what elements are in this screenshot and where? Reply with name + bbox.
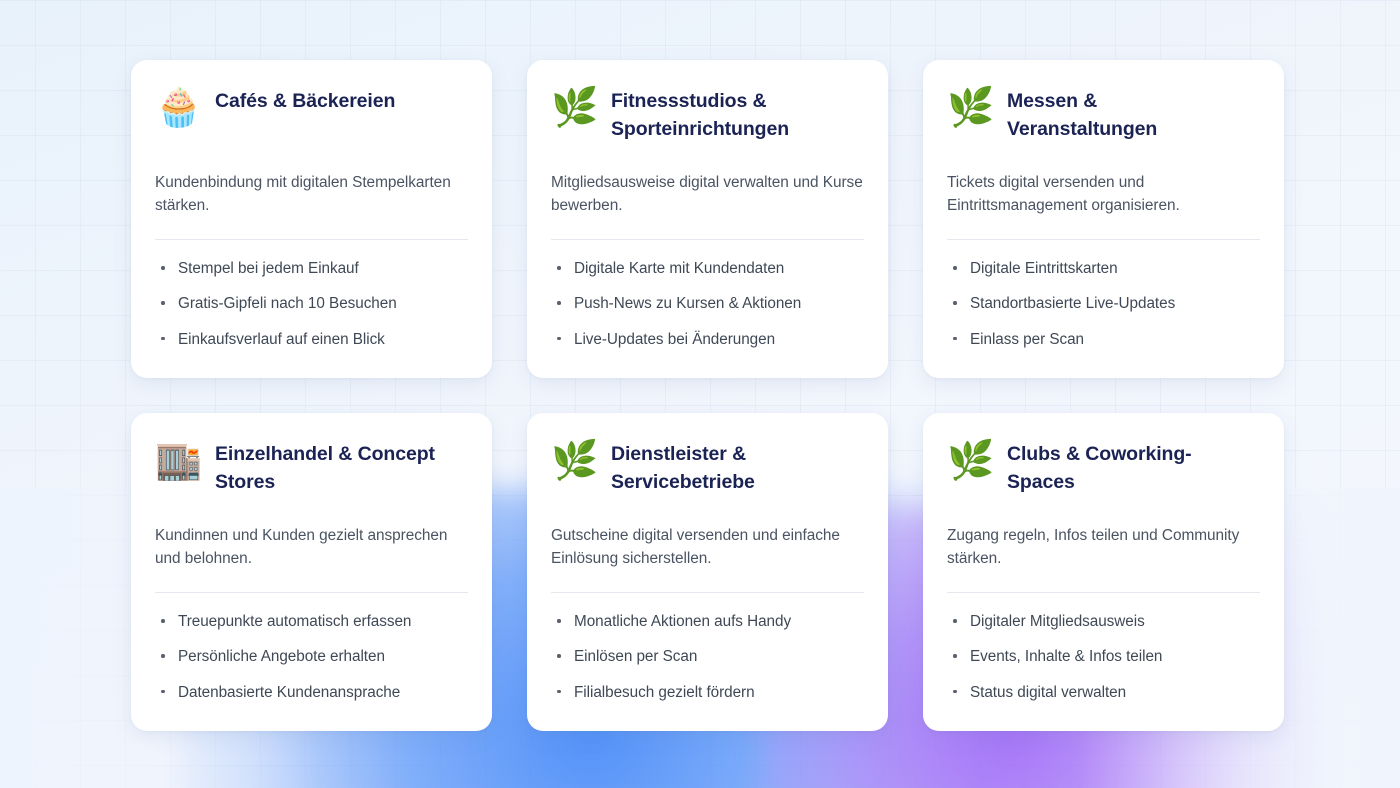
feature-list-item: Einlass per Scan <box>947 329 1260 351</box>
feature-label: Treuepunkte automatisch erfassen <box>178 613 411 630</box>
card-description: Tickets digital versenden und Eintrittsm… <box>947 172 1260 217</box>
bullet-icon <box>557 654 561 658</box>
bullet-icon <box>953 690 957 694</box>
card-description: Kundenbindung mit digitalen Stempelkarte… <box>155 172 468 217</box>
herb-icon: 🌿 <box>947 86 993 126</box>
cupcake-icon: 🧁 <box>155 86 201 126</box>
feature-label: Einlösen per Scan <box>574 648 697 665</box>
card-description: Kundinnen und Kunden gezielt ansprechen … <box>155 525 468 570</box>
feature-list-item: Events, Inhalte & Infos teilen <box>947 646 1260 668</box>
bullet-icon <box>161 619 165 623</box>
card-title: Einzelhandel & Concept Stores <box>215 439 455 496</box>
herb-icon: 🌿 <box>551 86 597 126</box>
feature-list-item: Digitaler Mitgliedsausweis <box>947 611 1260 633</box>
industry-card-grid: 🧁Cafés & BäckereienKundenbindung mit dig… <box>131 60 1284 731</box>
feature-label: Filialbesuch gezielt fördern <box>574 684 755 701</box>
bullet-icon <box>953 337 957 341</box>
department-store-icon: 🏬 <box>155 439 201 479</box>
bullet-icon <box>161 301 165 305</box>
feature-label: Status digital verwalten <box>970 684 1126 701</box>
feature-list-item: Live-Updates bei Änderungen <box>551 329 864 351</box>
feature-label: Persönliche Angebote erhalten <box>178 648 385 665</box>
card-title: Dienstleister & Servicebetriebe <box>611 439 851 496</box>
card-divider <box>155 239 468 240</box>
card-title: Cafés & Bäckereien <box>215 86 395 116</box>
bullet-icon <box>557 301 561 305</box>
feature-list-item: Einkaufsverlauf auf einen Blick <box>155 329 468 351</box>
feature-label: Gratis-Gipfeli nach 10 Besuchen <box>178 295 397 312</box>
industry-card[interactable]: 🧁Cafés & BäckereienKundenbindung mit dig… <box>131 60 492 378</box>
feature-label: Datenbasierte Kundenansprache <box>178 684 400 701</box>
feature-list-item: Persönliche Angebote erhalten <box>155 646 468 668</box>
card-divider <box>947 592 1260 593</box>
feature-label: Einlass per Scan <box>970 331 1084 348</box>
bullet-icon <box>557 619 561 623</box>
feature-list-item: Monatliche Aktionen aufs Handy <box>551 611 864 633</box>
industry-card[interactable]: 🌿Dienstleister & ServicebetriebeGutschei… <box>527 413 888 731</box>
feature-list-item: Filialbesuch gezielt fördern <box>551 682 864 704</box>
card-header: 🌿Dienstleister & Servicebetriebe <box>551 439 864 503</box>
card-feature-list: Stempel bei jedem EinkaufGratis-Gipfeli … <box>155 258 468 351</box>
bullet-icon <box>953 301 957 305</box>
feature-label: Standortbasierte Live-Updates <box>970 295 1175 312</box>
feature-label: Einkaufsverlauf auf einen Blick <box>178 331 385 348</box>
card-header: 🏬Einzelhandel & Concept Stores <box>155 439 468 503</box>
feature-list-item: Digitale Eintrittskarten <box>947 258 1260 280</box>
feature-label: Events, Inhalte & Infos teilen <box>970 648 1162 665</box>
card-description: Mitgliedsausweise digital verwalten und … <box>551 172 864 217</box>
card-divider <box>551 592 864 593</box>
industry-card[interactable]: 🌿Fitnessstudios & SporteinrichtungenMitg… <box>527 60 888 378</box>
herb-icon: 🌿 <box>551 439 597 479</box>
feature-list-item: Digitale Karte mit Kundendaten <box>551 258 864 280</box>
feature-list-item: Datenbasierte Kundenansprache <box>155 682 468 704</box>
page-background: 🧁Cafés & BäckereienKundenbindung mit dig… <box>0 0 1400 788</box>
card-feature-list: Treuepunkte automatisch erfassenPersönli… <box>155 611 468 704</box>
card-title: Messen & Veranstaltungen <box>1007 86 1247 143</box>
bullet-icon <box>161 266 165 270</box>
card-header: 🌿Messen & Veranstaltungen <box>947 86 1260 150</box>
card-title: Clubs & Coworking-Spaces <box>1007 439 1247 496</box>
card-feature-list: Digitale Karte mit KundendatenPush-News … <box>551 258 864 351</box>
feature-label: Stempel bei jedem Einkauf <box>178 260 359 277</box>
card-divider <box>551 239 864 240</box>
feature-list-item: Standortbasierte Live-Updates <box>947 293 1260 315</box>
industry-card[interactable]: 🌿Messen & VeranstaltungenTickets digital… <box>923 60 1284 378</box>
bullet-icon <box>161 337 165 341</box>
card-title: Fitnessstudios & Sporteinrichtungen <box>611 86 851 143</box>
card-feature-list: Digitaler MitgliedsausweisEvents, Inhalt… <box>947 611 1260 704</box>
card-header: 🧁Cafés & Bäckereien <box>155 86 468 150</box>
feature-label: Digitale Eintrittskarten <box>970 260 1118 277</box>
card-header: 🌿Clubs & Coworking-Spaces <box>947 439 1260 503</box>
feature-list-item: Status digital verwalten <box>947 682 1260 704</box>
industry-card[interactable]: 🏬Einzelhandel & Concept StoresKundinnen … <box>131 413 492 731</box>
card-description: Zugang regeln, Infos teilen und Communit… <box>947 525 1260 570</box>
feature-list-item: Treuepunkte automatisch erfassen <box>155 611 468 633</box>
card-header: 🌿Fitnessstudios & Sporteinrichtungen <box>551 86 864 150</box>
bullet-icon <box>953 654 957 658</box>
card-feature-list: Monatliche Aktionen aufs HandyEinlösen p… <box>551 611 864 704</box>
card-divider <box>155 592 468 593</box>
feature-list-item: Einlösen per Scan <box>551 646 864 668</box>
feature-label: Digitale Karte mit Kundendaten <box>574 260 784 277</box>
feature-list-item: Gratis-Gipfeli nach 10 Besuchen <box>155 293 468 315</box>
bullet-icon <box>953 266 957 270</box>
feature-list-item: Push-News zu Kursen & Aktionen <box>551 293 864 315</box>
bullet-icon <box>557 690 561 694</box>
feature-label: Digitaler Mitgliedsausweis <box>970 613 1145 630</box>
bullet-icon <box>557 266 561 270</box>
bullet-icon <box>557 337 561 341</box>
industry-card[interactable]: 🌿Clubs & Coworking-SpacesZugang regeln, … <box>923 413 1284 731</box>
card-description: Gutscheine digital versenden und einfach… <box>551 525 864 570</box>
bullet-icon <box>161 654 165 658</box>
herb-icon: 🌿 <box>947 439 993 479</box>
bullet-icon <box>953 619 957 623</box>
card-feature-list: Digitale EintrittskartenStandortbasierte… <box>947 258 1260 351</box>
card-divider <box>947 239 1260 240</box>
feature-label: Monatliche Aktionen aufs Handy <box>574 613 791 630</box>
bullet-icon <box>161 690 165 694</box>
feature-label: Live-Updates bei Änderungen <box>574 331 775 348</box>
feature-label: Push-News zu Kursen & Aktionen <box>574 295 801 312</box>
feature-list-item: Stempel bei jedem Einkauf <box>155 258 468 280</box>
